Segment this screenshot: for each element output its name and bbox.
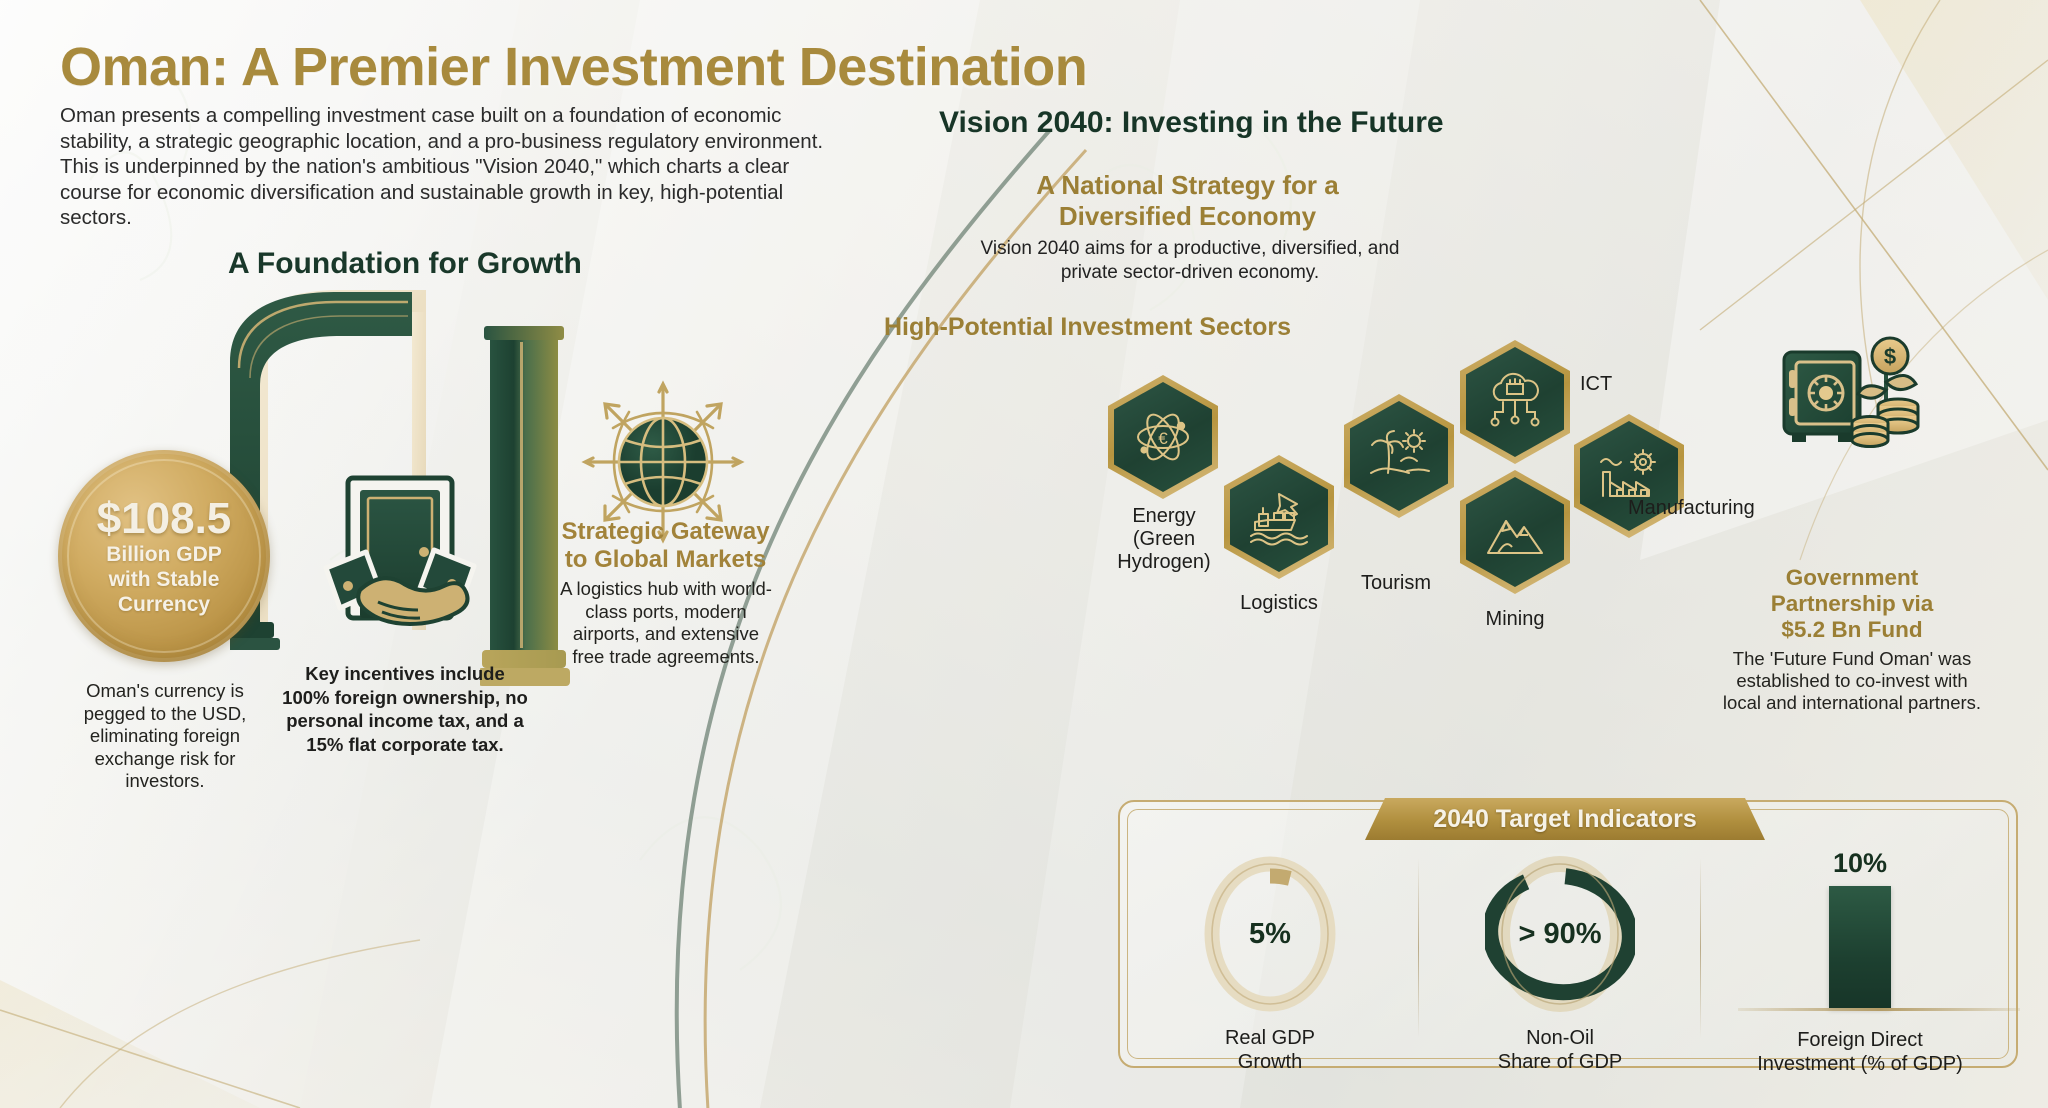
gdp-coin-badge: $108.5 Billion GDP with Stable Currency: [58, 450, 270, 662]
hex-inner: [1350, 401, 1448, 511]
strategy-title-line2: Diversified Economy: [1059, 201, 1316, 231]
svg-text:$: $: [1884, 344, 1896, 369]
kpi-label-non-oil: Non-Oil Share of GDP: [1440, 1026, 1680, 1074]
page-title: Oman: A Premier Investment Destination: [60, 36, 1087, 98]
hex-inner: €: [1114, 382, 1212, 492]
kpi-divider-1: [1418, 858, 1419, 1038]
strategy-title-line1: A National Strategy for a: [1036, 170, 1338, 200]
kpi-non-oil-share: > 90% Non-Oil Share of GDP: [1440, 848, 1680, 1074]
gov-title-line3: $5.2 Bn Fund: [1781, 617, 1922, 642]
infographic-canvas: Oman: A Premier Investment Destination O…: [0, 0, 2048, 1108]
gdp-label-line2: with Stable: [109, 567, 220, 592]
cloud-circuit-icon: [1483, 372, 1547, 432]
sector-hex-tourism[interactable]: [1344, 394, 1454, 518]
strategy-title: A National Strategy for a Diversified Ec…: [975, 170, 1400, 232]
sector-label-tourism: Tourism: [1332, 572, 1460, 595]
kpi-real-gdp-growth: 5% Real GDP Growth: [1155, 848, 1385, 1074]
fdi-baseline: [1738, 1008, 2020, 1011]
kpi-label-fdi: Foreign Direct Investment (% of GDP): [1710, 1028, 2010, 1076]
mountain-icon: [1484, 505, 1546, 559]
palm-sun-icon: [1367, 427, 1431, 485]
sector-hex-energy[interactable]: €: [1108, 375, 1218, 499]
strategy-body: Vision 2040 aims for a productive, diver…: [960, 237, 1420, 285]
target-indicators-banner: 2040 Target Indicators: [1365, 798, 1765, 840]
sector-hex-mining[interactable]: [1460, 470, 1570, 594]
hex-inner: [1230, 462, 1328, 572]
kpi-value-real-gdp: 5%: [1195, 848, 1345, 1020]
kpi-value-non-oil: > 90%: [1485, 848, 1635, 1020]
fdi-bar: [1829, 886, 1891, 1008]
currency-caption: Oman's currency is pegged to the USD, el…: [65, 680, 265, 793]
government-fund-body: The 'Future Fund Oman' was established t…: [1718, 648, 1986, 714]
kpi-value-fdi: 10%: [1710, 848, 2010, 879]
gov-title-line1: Government: [1786, 565, 1919, 590]
gateway-title-line1: Strategic Gateway: [561, 518, 769, 545]
svg-text:€: €: [1158, 429, 1168, 448]
sector-label-manufacturing: Manufacturing: [1628, 497, 1755, 520]
sector-label-ict: ICT: [1580, 373, 1612, 396]
sector-hex-ict[interactable]: [1460, 340, 1570, 464]
gdp-label-line3: Currency: [118, 592, 210, 617]
sectors-heading: High-Potential Investment Sectors: [884, 313, 1291, 342]
gov-title-line2: Partnership via: [1771, 591, 1934, 616]
gateway-body: A logistics hub with world-class ports, …: [560, 578, 772, 668]
government-fund-title: Government Partnership via $5.2 Bn Fund: [1722, 565, 1982, 643]
gateway-title-line2: to Global Markets: [565, 546, 766, 573]
safe-coins-plant-icon: $: [1780, 330, 1925, 455]
gdp-label-line1: Billion GDP: [106, 542, 222, 567]
sector-label-logistics: Logistics: [1216, 592, 1342, 615]
intro-paragraph: Oman presents a compelling investment ca…: [60, 103, 830, 231]
hex-inner: [1466, 347, 1564, 457]
hex-inner: [1466, 477, 1564, 587]
left-section-heading: A Foundation for Growth: [228, 247, 582, 281]
incentives-caption: Key incentives include 100% foreign owne…: [280, 662, 530, 756]
right-section-heading: Vision 2040: Investing in the Future: [939, 106, 1444, 140]
ship-plane-icon: [1247, 488, 1311, 546]
kpi-divider-2: [1700, 858, 1701, 1038]
gdp-value: $108.5: [97, 496, 232, 542]
factory-gear-icon: [1597, 448, 1661, 504]
sector-label-mining: Mining: [1452, 608, 1578, 631]
gateway-title: Strategic Gateway to Global Markets: [553, 518, 778, 574]
atom-icon: €: [1132, 406, 1194, 468]
sector-hex-logistics[interactable]: [1224, 455, 1334, 579]
sector-label-energy: Energy(GreenHydrogen): [1110, 505, 1218, 574]
kpi-fdi: 10% Foreign Direct Investment (% of GDP): [1710, 848, 2010, 1076]
kpi-label-real-gdp: Real GDP Growth: [1155, 1026, 1385, 1074]
